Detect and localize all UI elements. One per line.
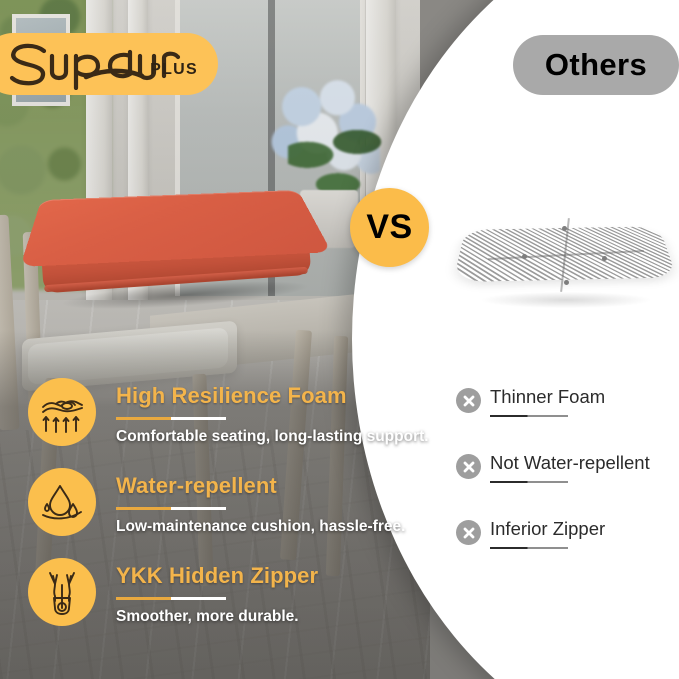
brand-badge: PLUS bbox=[0, 33, 218, 95]
con-item: Thinner Foam bbox=[456, 386, 679, 452]
x-circle-icon bbox=[456, 388, 481, 413]
con-item: Not Water-repellent bbox=[456, 452, 679, 518]
comparison-infographic: PLUS Others VS bbox=[0, 0, 679, 679]
feature-title: High Resilience Foam bbox=[116, 383, 347, 409]
feature-title: YKK Hidden Zipper bbox=[116, 563, 318, 589]
brand-suffix: PLUS bbox=[150, 61, 198, 79]
feature-item: High Resilience Foam Comfortable seating… bbox=[28, 374, 398, 464]
con-divider bbox=[490, 415, 568, 417]
con-title: Thinner Foam bbox=[490, 386, 605, 408]
competitor-tuft-1 bbox=[562, 226, 567, 231]
vs-label: VS bbox=[366, 208, 412, 247]
con-item: Inferior Zipper bbox=[456, 518, 679, 584]
competitor-cons-list: Thinner Foam Not Water-repellent bbox=[456, 386, 679, 584]
competitor-tuft-2 bbox=[522, 254, 527, 259]
con-divider bbox=[490, 547, 568, 549]
feature-subtitle: Comfortable seating, long-lasting suppor… bbox=[116, 428, 429, 446]
feature-divider bbox=[116, 597, 226, 600]
product-features-list: High Resilience Foam Comfortable seating… bbox=[28, 374, 398, 644]
others-label: Others bbox=[545, 47, 647, 83]
feature-item: Water-repellent Low-maintenance cushion,… bbox=[28, 464, 398, 554]
feature-divider bbox=[116, 507, 226, 510]
product-cushion-image bbox=[24, 172, 324, 312]
vs-badge: VS bbox=[350, 188, 429, 267]
x-circle-icon bbox=[456, 454, 481, 479]
zipper-icon bbox=[28, 558, 96, 626]
competitor-cushion-shadow bbox=[482, 292, 650, 308]
feature-item: YKK Hidden Zipper Smoother, more durable… bbox=[28, 554, 398, 644]
con-title: Not Water-repellent bbox=[490, 452, 650, 474]
brand-logo: PLUS bbox=[0, 38, 204, 90]
competitor-cushion-image bbox=[452, 196, 678, 318]
hand-pressing-foam-icon bbox=[28, 378, 96, 446]
competitor-tuft-4 bbox=[564, 280, 569, 285]
feature-divider bbox=[116, 417, 226, 420]
feature-subtitle: Smoother, more durable. bbox=[116, 608, 299, 626]
water-droplet-repel-icon bbox=[28, 468, 96, 536]
others-badge: Others bbox=[513, 35, 679, 95]
competitor-tuft-3 bbox=[602, 256, 607, 261]
feature-subtitle: Low-maintenance cushion, hassle-free. bbox=[116, 518, 405, 536]
x-circle-icon bbox=[456, 520, 481, 545]
con-divider bbox=[490, 481, 568, 483]
feature-title: Water-repellent bbox=[116, 473, 277, 499]
con-title: Inferior Zipper bbox=[490, 518, 605, 540]
